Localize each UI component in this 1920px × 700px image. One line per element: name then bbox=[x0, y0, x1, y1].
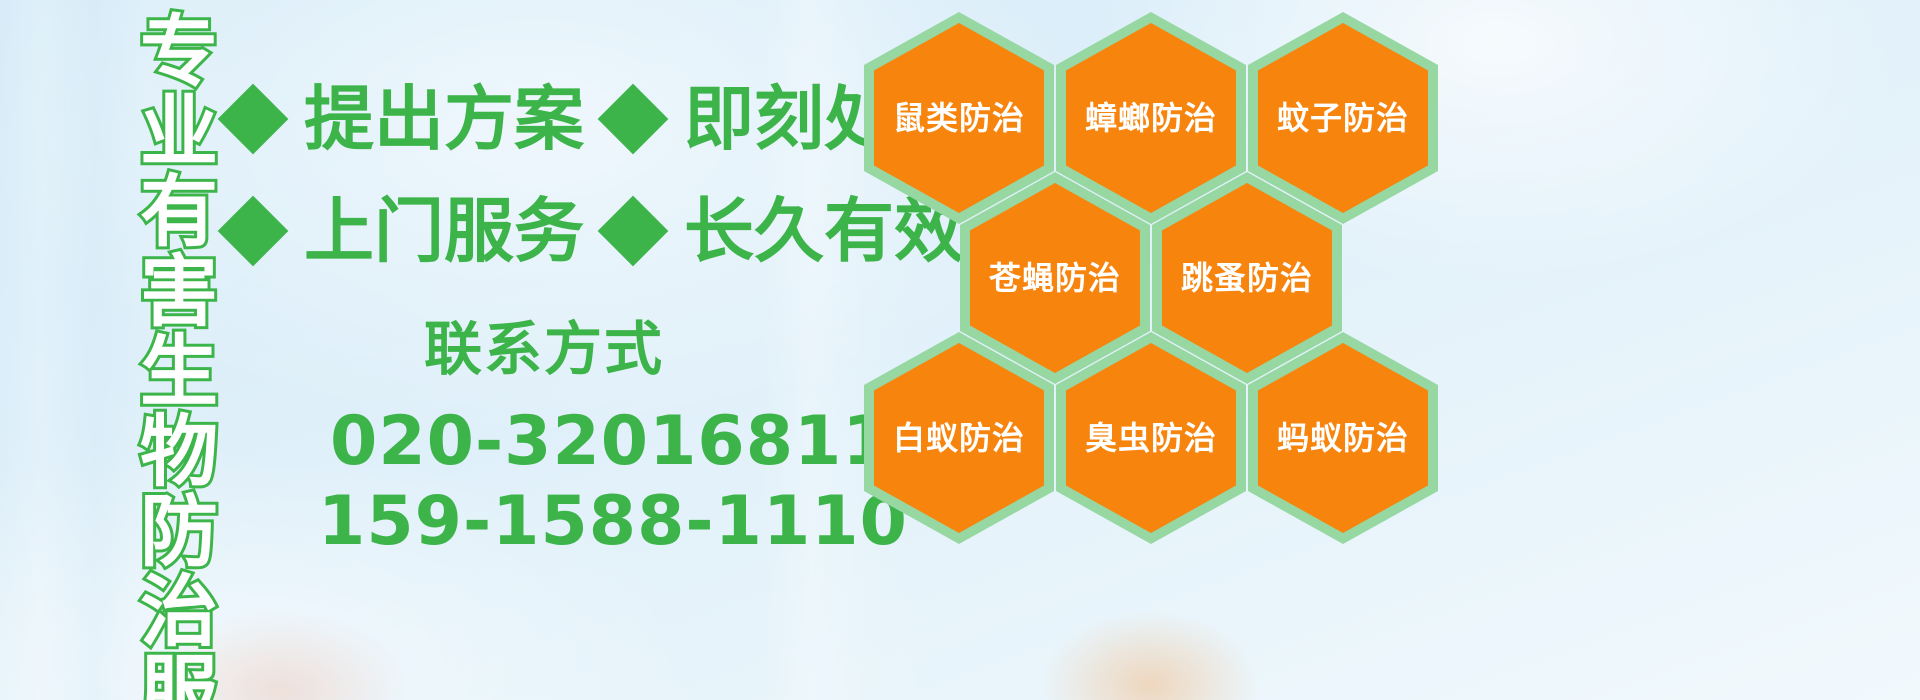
contact-title: 联系方式 bbox=[424, 320, 664, 378]
service-hex-fill: 蚊子防治 bbox=[1258, 23, 1428, 213]
service-hex-fill: 蟑螂防治 bbox=[1066, 23, 1236, 213]
service-hex-fill: 蚂蚁防治 bbox=[1258, 343, 1428, 533]
service-hex-label: 臭虫防治 bbox=[1085, 422, 1217, 454]
diamond-icon bbox=[598, 196, 669, 267]
service-hex-label: 蟑螂防治 bbox=[1085, 102, 1217, 134]
service-hex-label: 蚂蚁防治 bbox=[1277, 422, 1409, 454]
diamond-icon bbox=[218, 84, 289, 155]
service-hex-label: 跳蚤防治 bbox=[1181, 262, 1313, 294]
pest-control-banner: 专业有害生物防治服务 提出方案 即刻处理 上门服务 长久有效 联系方式 020-… bbox=[0, 0, 1920, 700]
service-hex-label: 苍蝇防治 bbox=[989, 262, 1121, 294]
service-honeycomb: 鼠类防治 蟑螂防治 蚊子防治 苍蝇防治 跳蚤防治 白蚁防治 bbox=[858, 0, 1478, 700]
phone-number-mobile[interactable]: 159-1588-1110 bbox=[318, 488, 908, 556]
vertical-headline: 专业有害生物防治服务 bbox=[108, 10, 212, 700]
phone-number-landline[interactable]: 020-32016811 bbox=[330, 408, 891, 476]
service-hex-fill: 鼠类防治 bbox=[874, 23, 1044, 213]
slogan-item-propose-plan: 提出方案 bbox=[304, 84, 584, 154]
service-hex-fill: 臭虫防治 bbox=[1066, 343, 1236, 533]
service-hex-label: 白蚁防治 bbox=[893, 422, 1025, 454]
service-hex-label: 蚊子防治 bbox=[1277, 102, 1409, 134]
service-hex-label: 鼠类防治 bbox=[893, 102, 1025, 134]
service-hex-fill: 跳蚤防治 bbox=[1162, 183, 1332, 373]
service-hex-fill: 苍蝇防治 bbox=[970, 183, 1140, 373]
diamond-icon bbox=[218, 196, 289, 267]
slogan-item-door-to-door-service: 上门服务 bbox=[304, 196, 584, 266]
diamond-icon bbox=[598, 84, 669, 155]
service-hex-fill: 白蚁防治 bbox=[874, 343, 1044, 533]
